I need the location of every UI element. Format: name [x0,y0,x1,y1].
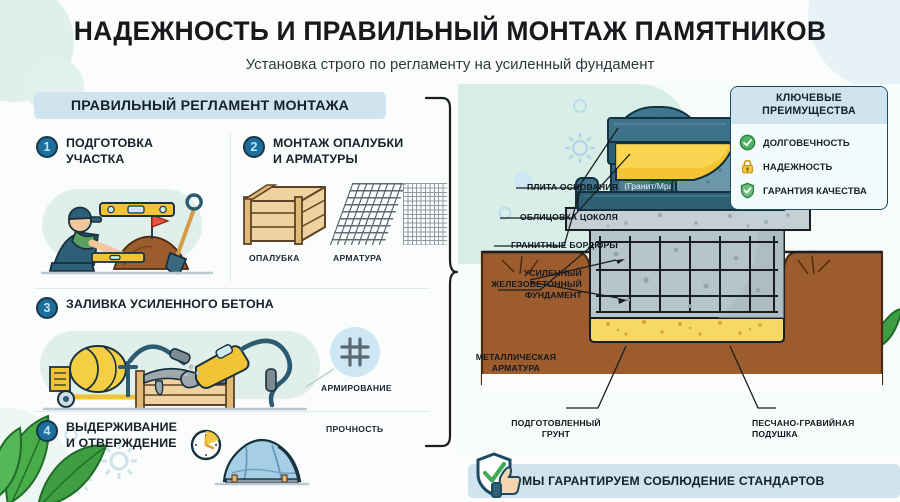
page-subtitle: Установка строго по регламенту на усилен… [0,56,900,73]
step-1-illustration [36,173,224,281]
step-1-title: ПОДГОТОВКА УЧАСТКА [66,136,153,167]
step-1-title-line1: ПОДГОТОВКА [66,136,153,150]
key-advantage-label-durability: ДОЛГОВЕЧНОСТЬ [763,137,850,148]
step-4: 4 ВЫДЕРЖИВАНИЕ И ОТВЕРЖДЕНИЕ ПРОЧНОСТЬ [34,412,430,485]
step-2: 2 МОНТАЖ ОПАЛУБКИ И АРМАТУРЫ [231,126,430,288]
label-metallicheskaya-armatura: МЕТАЛЛИЧЕСКАЯ АРМАТУРА [460,352,572,374]
process-panel-heading: ПРАВИЛЬНЫЙ РЕГЛАМЕНТ МОНТАЖА [34,92,386,119]
infographic-root: НАДЕЖНОСТЬ И ПРАВИЛЬНЫЙ МОНТАЖ ПАМЯТНИКО… [0,0,900,502]
label-podushka-line2: ПОДУШКА [752,429,798,439]
caption-armirovanie: АРМИРОВАНИЕ [321,383,392,393]
label-armatura-line1: МЕТАЛЛИЧЕСКАЯ [476,352,556,362]
step-1-title-line2: УЧАСТКА [66,152,124,166]
label-granitnye-bordyury: ГРАНИТНЫЕ БОРДЮРЫ [466,240,618,251]
step-1-number: 1 [36,136,58,158]
process-panel: ПРАВИЛЬНЫЙ РЕГЛАМЕНТ МОНТАЖА 1 ПОДГОТОВК… [34,92,430,452]
guarantee-banner-text: МЫ ГАРАНТИРУЕМ СОБЛЮДЕНИЕ СТАНДАРТОВ [522,474,824,488]
key-advantage-label-quality: ГАРАНТИЯ КАЧЕСТВА [763,185,867,196]
key-advantage-item-reliability: НАДЕЖНОСТЬ [739,154,879,178]
key-advantages-heading-line2: ПРЕИМУЩЕСТВА [762,105,856,117]
step-2-number: 2 [243,136,265,158]
rebar-mesh-diagonal-icon [330,183,407,245]
formwork-crate-icon [243,183,329,247]
page-title: НАДЕЖНОСТЬ И ПРАВИЛЬНЫЙ МОНТАЖ ПАМЯТНИКО… [0,16,900,47]
key-advantage-label-reliability: НАДЕЖНОСТЬ [763,161,832,172]
step-3: 3 ЗАЛИВКА УСИЛЕННОГО БЕТОНА [34,289,430,411]
key-advantages-list: ДОЛГОВЕЧНОСТЬ НАДЕЖНОСТЬ ГАРАНТИЯ КАЧЕСТ… [731,124,887,209]
label-grunt-line1: ПОДГОТОВЛЕННЫЙ [511,418,601,428]
armirovanie-badge [330,327,380,377]
shield-check-icon [739,182,756,199]
step-4-illustration [36,429,428,485]
key-advantage-item-quality: ГАРАНТИЯ КАЧЕСТВА [739,178,879,202]
shield-check-thumbsup-icon [474,452,532,502]
label-fundament-line1: УСИЛЕННЫЙ [524,268,582,278]
step-3-number: 3 [36,297,58,319]
header: НАДЕЖНОСТЬ И ПРАВИЛЬНЫЙ МОНТАЖ ПАМЯТНИКО… [0,0,900,84]
key-advantages-heading-line1: КЛЮЧЕВЫЕ [776,92,842,104]
label-grunt-line2: ГРУНТ [542,429,570,439]
step-3-illustration: АРМИРОВАНИЕ [36,321,428,411]
caption-opalubka: ОПАЛУБКА [249,253,300,263]
step-2-title-line1: МОНТАЖ ОПАЛУБКИ [273,136,403,150]
label-fundament-line2: ЖЕЛЕЗОБЕТОННЫЙ [491,279,582,289]
key-advantages-box: КЛЮЧЕВЫЕ ПРЕИМУЩЕСТВА ДОЛГОВЕЧНОСТЬ НАДЕ… [730,86,888,210]
caption-armatura: АРМАТУРА [333,253,382,263]
rebar-mesh-fine-icon [403,183,447,245]
step-2-title: МОНТАЖ ОПАЛУБКИ И АРМАТУРЫ [273,136,403,167]
check-circle-icon [739,134,756,151]
lock-icon [739,158,756,175]
step-2-title-line2: И АРМАТУРЫ [273,152,358,166]
label-peschano-gravijnaya-podushka: ПЕСЧАНО-ГРАВИЙНАЯ ПОДУШКА [752,418,896,440]
key-advantages-heading: КЛЮЧЕВЫЕ ПРЕИМУЩЕСТВА [731,87,887,124]
label-podgotovlennyj-grunt: ПОДГОТОВЛЕННЫЙ ГРУНТ [500,418,612,440]
guarantee-banner: МЫ ГАРАНТИРУЕМ СОБЛЮДЕНИЕ СТАНДАРТОВ [468,464,900,498]
curing-cover-icon [186,429,334,487]
label-plita-osnovaniya: ПЛИТА ОСНОВАНИЯ [488,182,618,193]
rebar-grid-icon [339,336,371,368]
key-advantage-item-durability: ДОЛГОВЕЧНОСТЬ [739,130,879,154]
label-podushka-line1: ПЕСЧАНО-ГРАВИЙНАЯ [752,418,855,428]
label-usilennyj-fundament: УСИЛЕННЫЙ ЖЕЛЕЗОБЕТОННЫЙ ФУНДАМЕНТ [466,268,582,302]
label-oblicovka-cokolya: ОБЛИЦОВКА ЦОКОЛЯ [472,212,618,223]
step-2-illustration: ОПАЛУБКА АРМАТУРА [243,177,428,277]
step-3-title: ЗАЛИВКА УСИЛЕННОГО БЕТОНА [66,297,274,313]
label-fundament-line3: ФУНДАМЕНТ [525,290,582,300]
step-1: 1 ПОДГОТОВКА УЧАСТКА [34,126,230,288]
process-steps-list: 1 ПОДГОТОВКА УЧАСТКА [34,126,430,485]
label-armatura-line2: АРМАТУРА [492,363,540,373]
